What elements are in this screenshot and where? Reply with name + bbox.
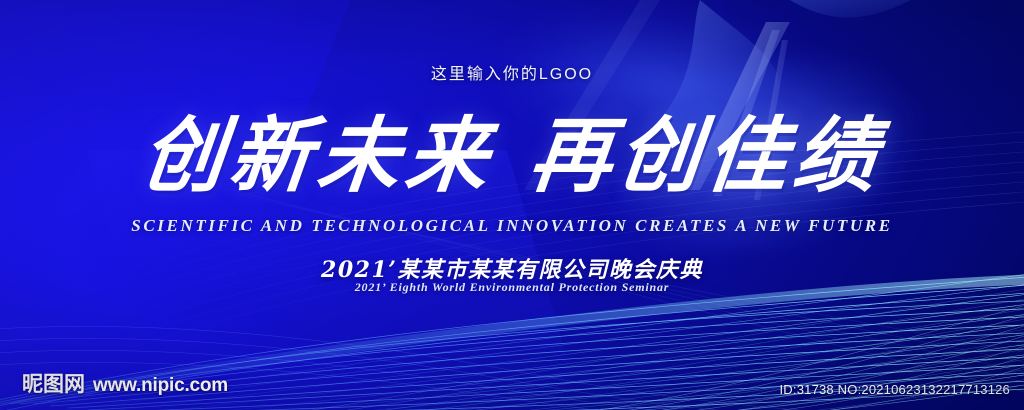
- watermark-site-name: 昵图网: [22, 368, 85, 398]
- headline-right-phrase: 再创佳绩: [525, 108, 887, 204]
- watermark-site-url: www.nipic.com: [93, 375, 228, 397]
- logo-placeholder-text: 这里输入你的LGOO: [0, 60, 1024, 84]
- headline: 创新未来再创佳绩: [0, 108, 1024, 204]
- watermark: 昵图网 www.nipic.com: [22, 368, 228, 398]
- subtitle-english: SCIENTIFIC AND TECHNOLOGICAL INNOVATION …: [0, 216, 1024, 236]
- promotional-banner: 这里输入你的LGOO 创新未来再创佳绩 SCIENTIFIC AND TECHN…: [0, 0, 1024, 410]
- subtitle-english-small: 2021’ Eighth World Environmental Protect…: [0, 280, 1024, 295]
- headline-left-phrase: 创新未来: [137, 108, 499, 204]
- image-id-code: ID:31738 NO:20210623132217713126: [780, 382, 1011, 397]
